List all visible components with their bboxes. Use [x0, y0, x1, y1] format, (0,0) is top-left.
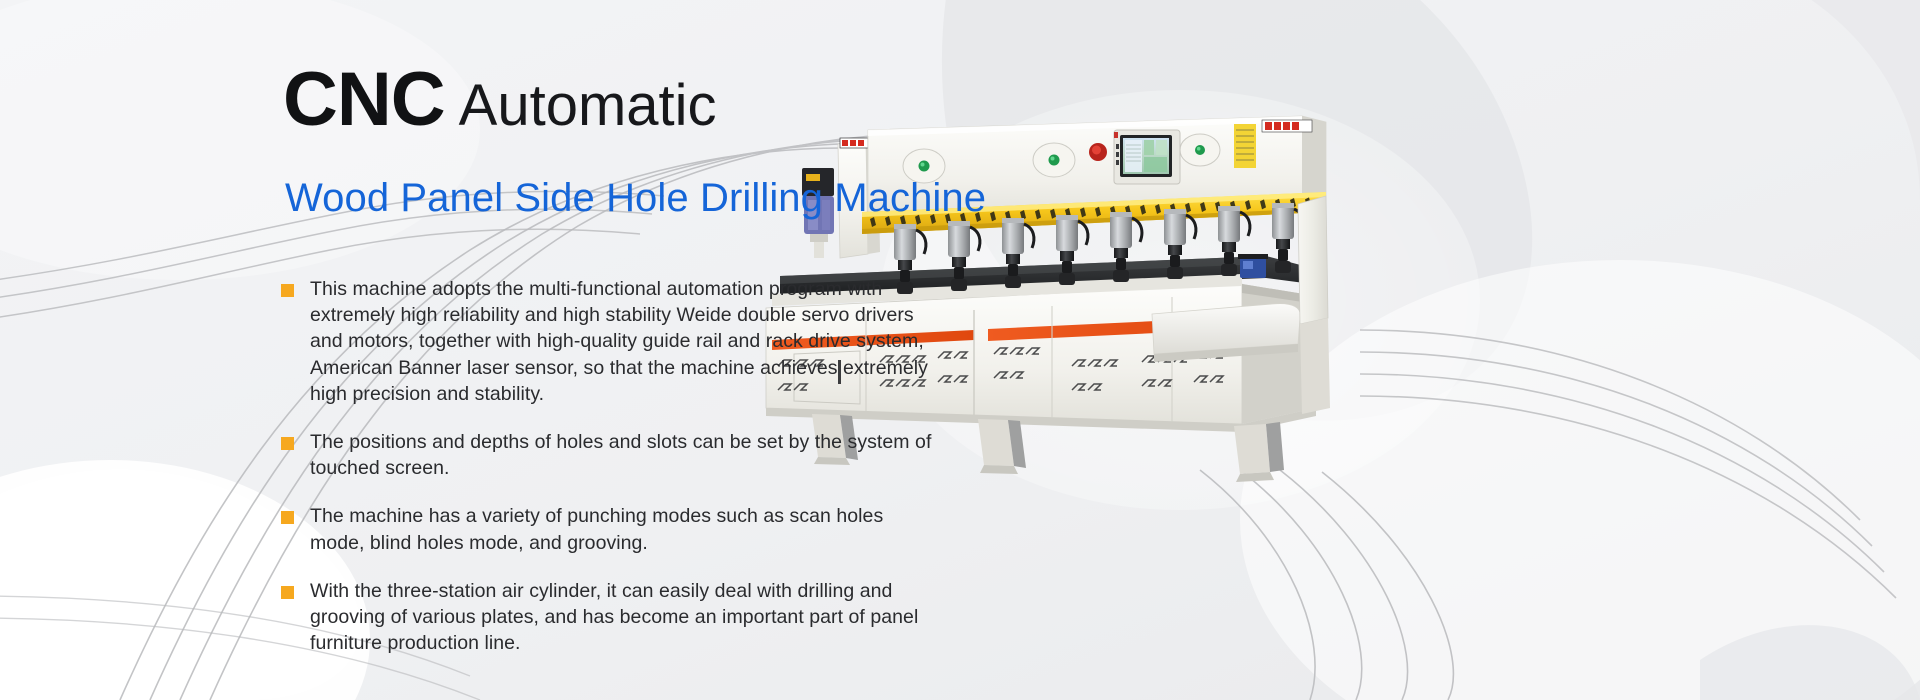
output-tray — [1152, 304, 1300, 362]
list-item-text: With the three-station air cylinder, it … — [310, 578, 941, 657]
title-strong: CNC — [283, 57, 445, 142]
list-item-text: This machine adopts the multi-functional… — [310, 276, 941, 407]
support-foot — [1234, 422, 1284, 482]
list-item-text: The positions and depths of holes and sl… — [310, 429, 941, 481]
list-item-text: The machine has a variety of punching mo… — [310, 503, 941, 555]
title-light: Automatic — [459, 73, 717, 138]
control-panel-touchscreen — [1114, 130, 1180, 184]
laser-sensor-unit — [1238, 254, 1268, 278]
feature-bullet-list: This machine adopts the multi-functional… — [281, 276, 941, 678]
square-bullet-icon — [281, 586, 294, 599]
list-item: This machine adopts the multi-functional… — [281, 276, 941, 407]
emergency-stop-button — [1089, 143, 1107, 161]
warning-decal — [1262, 120, 1312, 132]
indicator-knob-right — [1033, 143, 1075, 177]
list-item: With the three-station air cylinder, it … — [281, 578, 941, 657]
square-bullet-icon — [281, 511, 294, 524]
indicator-knob-far-right — [1180, 134, 1220, 166]
gantry-column-right — [1298, 196, 1330, 414]
page-title: CNCAutomatic — [283, 62, 717, 138]
list-item: The machine has a variety of punching mo… — [281, 503, 941, 555]
square-bullet-icon — [281, 437, 294, 450]
text-content: CNCAutomatic Wood Panel Side Hole Drilli… — [0, 0, 1000, 700]
page-subtitle: Wood Panel Side Hole Drilling Machine — [285, 178, 986, 218]
promo-banner: CNCAutomatic Wood Panel Side Hole Drilli… — [0, 0, 1920, 700]
list-item: The positions and depths of holes and sl… — [281, 429, 941, 481]
square-bullet-icon — [281, 284, 294, 297]
